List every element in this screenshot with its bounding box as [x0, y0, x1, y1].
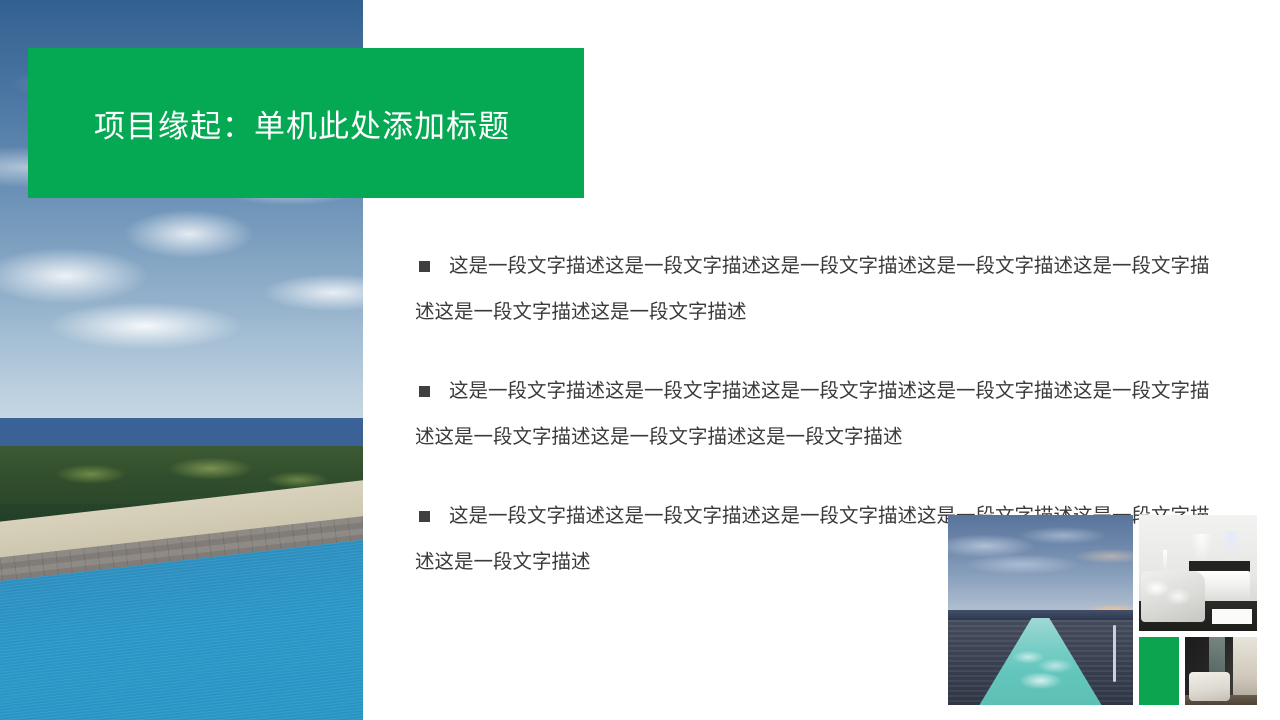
thumb-pool-ladder-rail: [1113, 625, 1116, 682]
square-bullet-icon: [419, 386, 430, 397]
thumbnail-cluster: [948, 515, 1260, 705]
bullet-text-2: 这是一段文字描述这是一段文字描述这是一段文字描述这是一段文字描述这是一段文字描述…: [415, 380, 1210, 448]
bullet-item-1: 这是一段文字描述这是一段文字描述这是一段文字描述这是一段文字描述这是一段文字描述…: [415, 243, 1225, 335]
thumbnail-dark-bedroom-interior-photo: [1185, 637, 1257, 705]
thumbnail-green-color-block: [1139, 637, 1179, 705]
slide-title: 项目缘起：单机此处添加标题: [28, 101, 510, 146]
bedroom-table: [1212, 609, 1252, 624]
bedroom-sofa: [1141, 571, 1205, 622]
thumbnail-bottom-row: [1139, 637, 1257, 705]
square-bullet-icon: [419, 511, 430, 522]
thumbnail-white-bedroom-interior-photo: [1139, 515, 1257, 631]
thumbnail-twilight-infinity-pool-photo: [948, 515, 1133, 705]
bullet-text-1: 这是一段文字描述这是一段文字描述这是一段文字描述这是一段文字描述这是一段文字描述…: [415, 255, 1210, 323]
dark-bedroom-bed: [1189, 672, 1229, 701]
thumbnail-right-column: [1139, 515, 1257, 705]
square-bullet-icon: [419, 261, 430, 272]
bullet-item-2: 这是一段文字描述这是一段文字描述这是一段文字描述这是一段文字描述这是一段文字描述…: [415, 368, 1225, 460]
slide-canvas: 项目缘起：单机此处添加标题 这是一段文字描述这是一段文字描述这是一段文字描述这是…: [0, 0, 1280, 720]
title-banner: 项目缘起：单机此处添加标题: [28, 48, 584, 198]
bedroom-ceiling-light-glow: [1191, 534, 1212, 562]
bedroom-ceiling-light-glow: [1222, 531, 1241, 561]
